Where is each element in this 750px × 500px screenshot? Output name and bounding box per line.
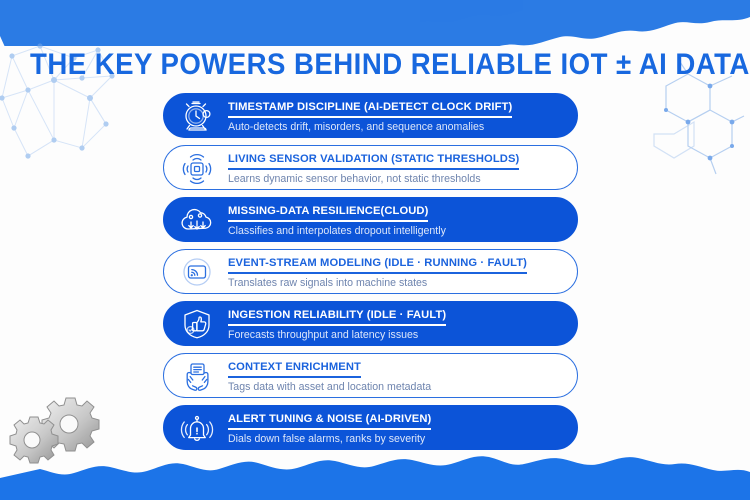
row-text: ALERT TUNING & NOISE (AI-DRIVEN) Dials d… bbox=[222, 409, 577, 446]
powers-list: TIMESTAMP DISCIPLINE (AI-DETECT CLOCK DR… bbox=[163, 93, 578, 457]
alarm-clock-icon bbox=[172, 94, 222, 137]
row-description: Dials down false alarms, ranks by severi… bbox=[228, 433, 567, 446]
power-row-alert-tuning-noise[interactable]: ALERT TUNING & NOISE (AI-DRIVEN) Dials d… bbox=[163, 405, 578, 450]
row-description: Learns dynamic sensor behavior, not stat… bbox=[228, 173, 567, 186]
row-text: INGESTION RELIABILITY (IDLE · FAULT) For… bbox=[222, 305, 577, 342]
gears-icon bbox=[2, 386, 106, 472]
row-description: Auto-detects drift, misorders, and seque… bbox=[228, 121, 567, 134]
infographic-canvas: THE KEY POWERS BEHIND RELIABLE IOT ± AI … bbox=[0, 0, 750, 500]
row-heading: CONTEXT ENRICHMENT bbox=[228, 361, 361, 378]
row-text: MISSING-DATA RESILIENCE(CLOUD) Classifie… bbox=[222, 201, 577, 238]
row-text: EVENT-STREAM MODELING (IDLE · RUNNING · … bbox=[222, 253, 577, 290]
row-description: Translates raw signals into machine stat… bbox=[228, 277, 567, 290]
row-heading: ALERT TUNING & NOISE (AI-DRIVEN) bbox=[228, 413, 431, 430]
row-text: CONTEXT ENRICHMENT Tags data with asset … bbox=[222, 357, 577, 394]
row-heading: LIVING SENSOR VALIDATION (STATIC THRESHO… bbox=[228, 153, 519, 170]
power-row-timestamp-discipline[interactable]: TIMESTAMP DISCIPLINE (AI-DETECT CLOCK DR… bbox=[163, 93, 578, 138]
row-heading: EVENT-STREAM MODELING (IDLE · RUNNING · … bbox=[228, 257, 527, 274]
row-description: Classifies and interpolates dropout inte… bbox=[228, 225, 567, 238]
sensor-signal-icon bbox=[172, 146, 222, 189]
row-heading: MISSING-DATA RESILIENCE(CLOUD) bbox=[228, 205, 428, 222]
row-description: Tags data with asset and location metada… bbox=[228, 381, 567, 394]
row-text: LIVING SENSOR VALIDATION (STATIC THRESHO… bbox=[222, 149, 577, 186]
power-row-event-stream-modeling[interactable]: EVENT-STREAM MODELING (IDLE · RUNNING · … bbox=[163, 249, 578, 294]
brush-stroke-top-icon bbox=[0, 0, 750, 46]
alert-bell-waves-icon bbox=[172, 406, 222, 449]
row-text: TIMESTAMP DISCIPLINE (AI-DETECT CLOCK DR… bbox=[222, 97, 577, 134]
stream-cast-screen-icon bbox=[172, 250, 222, 293]
power-row-living-sensor-validation[interactable]: LIVING SENSOR VALIDATION (STATIC THRESHO… bbox=[163, 145, 578, 190]
row-heading: TIMESTAMP DISCIPLINE (AI-DETECT CLOCK DR… bbox=[228, 101, 512, 118]
row-heading: INGESTION RELIABILITY (IDLE · FAULT) bbox=[228, 309, 446, 326]
row-description: Forecasts throughput and latency issues bbox=[228, 329, 567, 342]
hands-holding-document-icon bbox=[172, 354, 222, 397]
shield-thumbs-up-icon bbox=[172, 302, 222, 345]
power-row-ingestion-reliability[interactable]: INGESTION RELIABILITY (IDLE · FAULT) For… bbox=[163, 301, 578, 346]
cloud-download-icon bbox=[172, 198, 222, 241]
page-title: THE KEY POWERS BEHIND RELIABLE IOT ± AI … bbox=[30, 48, 720, 82]
power-row-missing-data-resilience[interactable]: MISSING-DATA RESILIENCE(CLOUD) Classifie… bbox=[163, 197, 578, 242]
power-row-context-enrichment[interactable]: CONTEXT ENRICHMENT Tags data with asset … bbox=[163, 353, 578, 398]
